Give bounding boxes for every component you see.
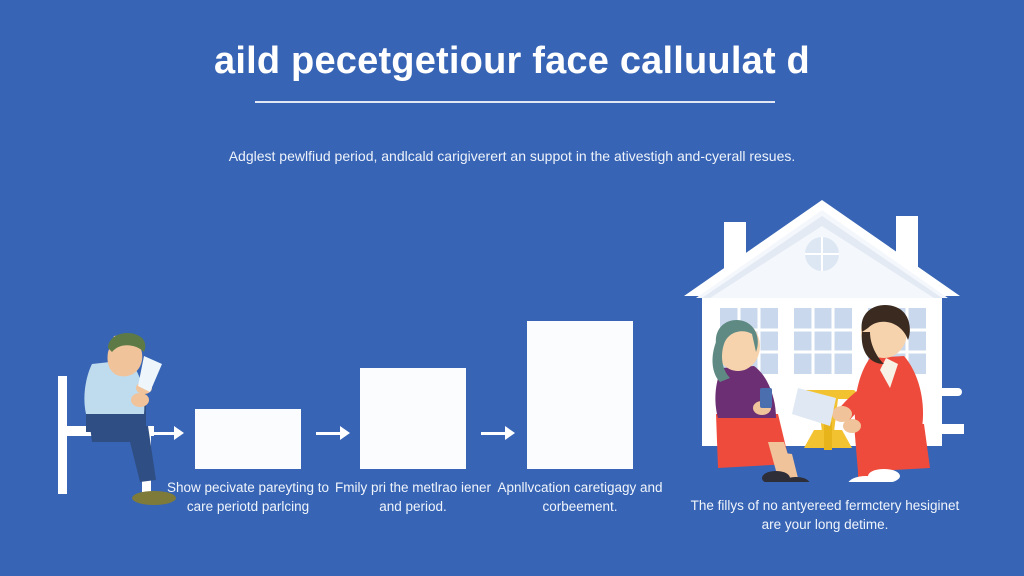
arrow-right-icon (481, 424, 515, 442)
step-panel-2 (360, 368, 466, 469)
step-panel-3 (527, 321, 633, 469)
page-subtitle: Adglest pewlfiud period, andlcald carigi… (0, 148, 1024, 164)
slide-canvas: aild pecetgetiour face calluulat d Adgle… (0, 0, 1024, 576)
step-panel-1 (195, 409, 301, 469)
arrow-right-icon (316, 424, 350, 442)
page-title: aild pecetgetiour face calluulat d (0, 40, 1024, 83)
step-caption-2: Fmily pri the metlrao iener and period. (330, 478, 496, 516)
step-caption-3: Apnllvcation caretigagy and corbeement. (497, 478, 663, 516)
house-with-family-icon (672, 192, 978, 482)
arrow-right-icon (150, 424, 184, 442)
step-caption-4: The fillys of no antyereed fermctery hes… (680, 496, 970, 534)
title-divider (255, 101, 775, 103)
step-caption-1: Show pecivate pareyting to care periotd … (165, 478, 331, 516)
